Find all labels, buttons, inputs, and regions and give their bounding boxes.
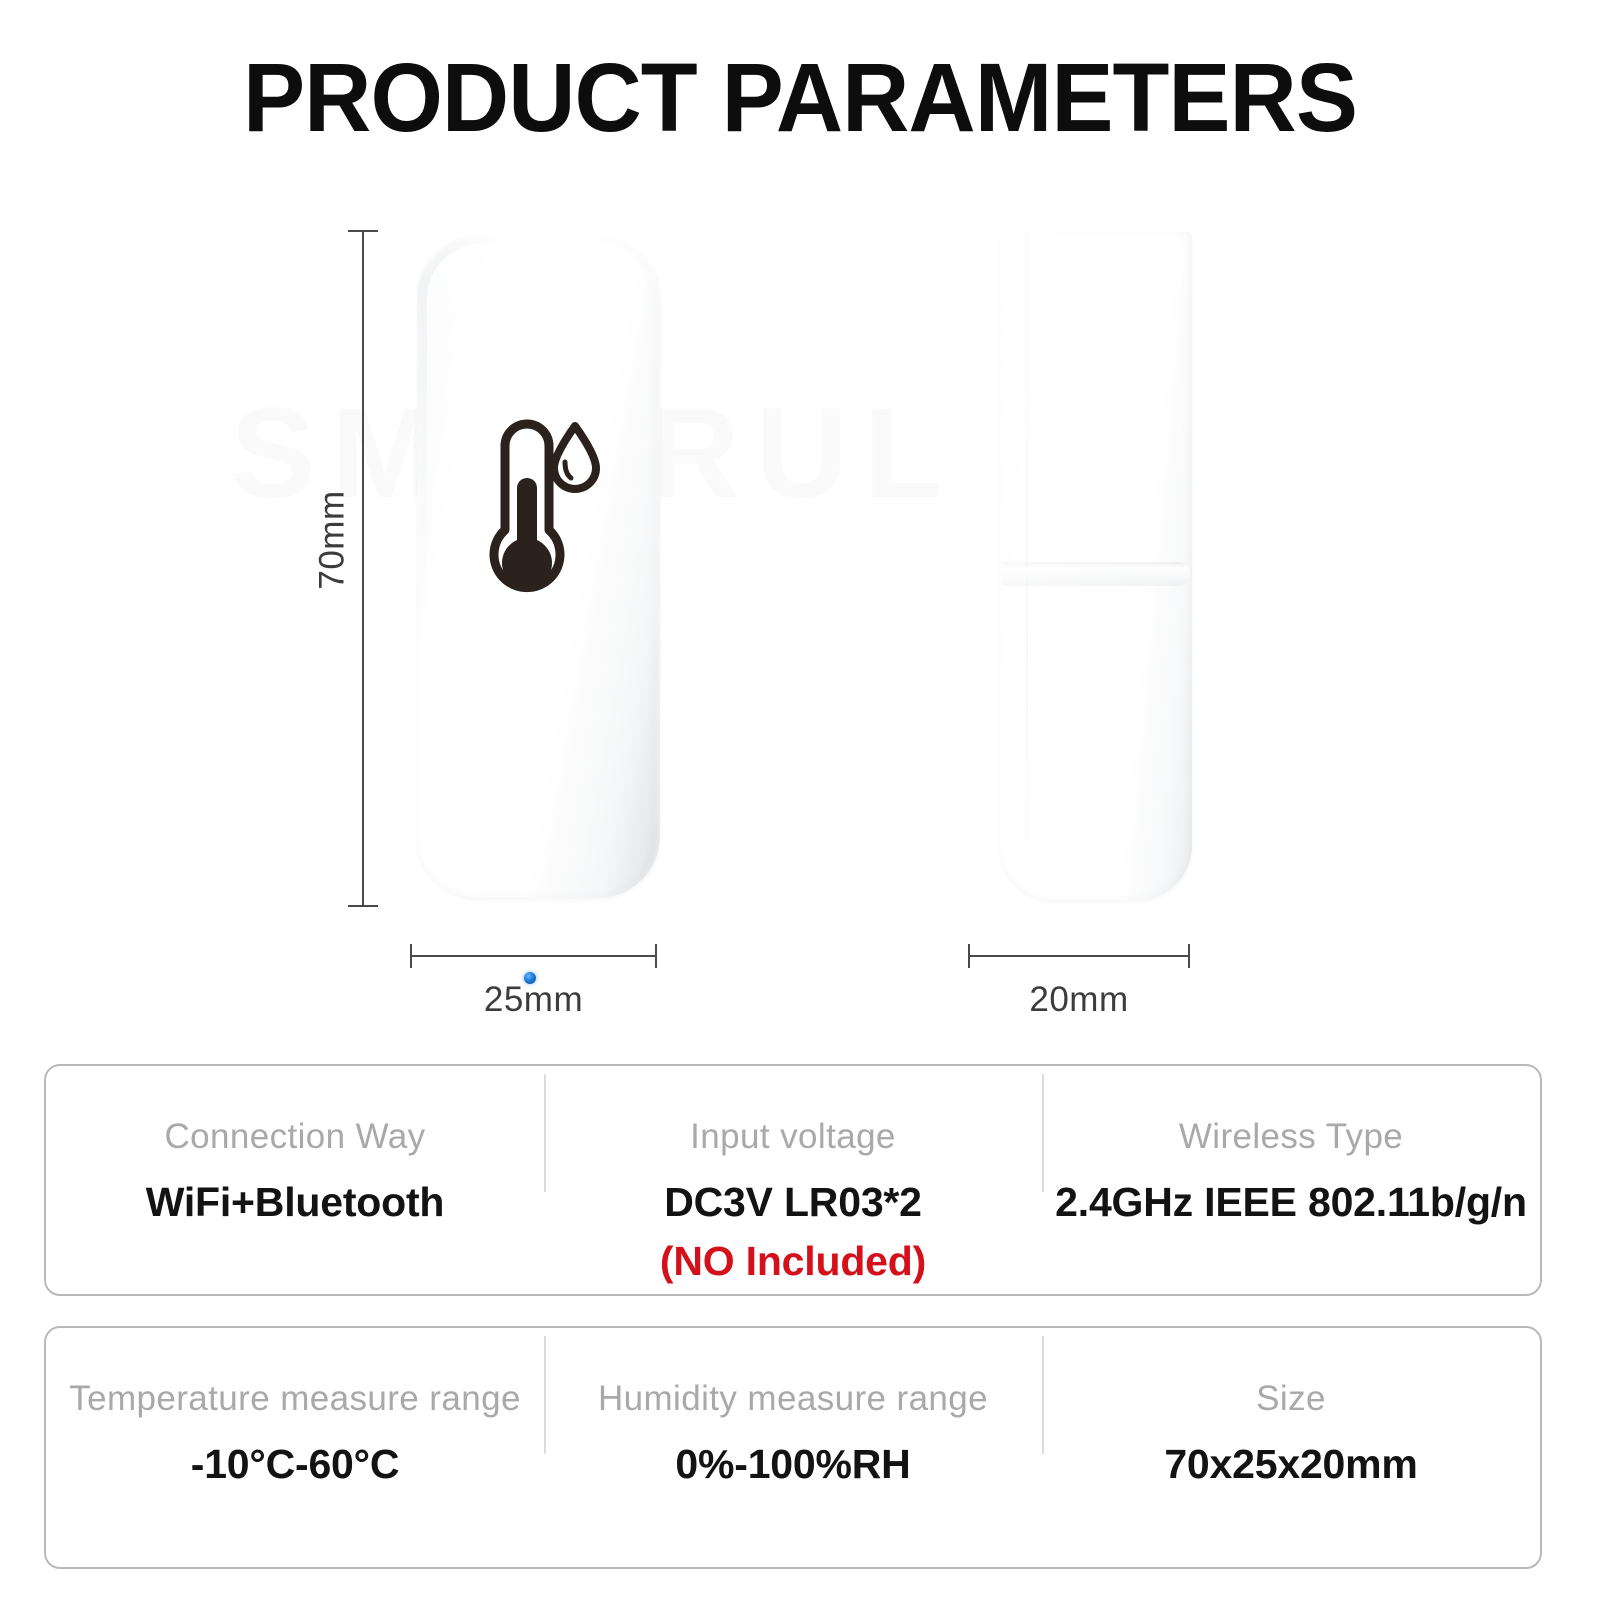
spec-card-primary: Connection Way WiFi+Bluetooth Input volt… bbox=[44, 1064, 1542, 1296]
spec-label: Temperature measure range bbox=[46, 1380, 544, 1419]
spec-value: WiFi+Bluetooth bbox=[46, 1179, 544, 1226]
spec-note-not-included: (NO Included) bbox=[544, 1238, 1042, 1285]
spec-row: Connection Way WiFi+Bluetooth Input volt… bbox=[46, 1066, 1540, 1294]
spec-value: 70x25x20mm bbox=[1042, 1441, 1540, 1488]
side-highlight bbox=[1000, 232, 1146, 900]
spec-cell-temperature-range: Temperature measure range -10°C-60°C bbox=[46, 1328, 544, 1488]
height-dimension-line bbox=[362, 230, 364, 907]
side-width-dimension-label: 20mm bbox=[968, 980, 1190, 1020]
front-width-dimension-label: 25mm bbox=[410, 980, 657, 1020]
spec-row: Temperature measure range -10°C-60°C Hum… bbox=[46, 1328, 1540, 1567]
spec-label: Wireless Type bbox=[1042, 1118, 1540, 1157]
spec-value: 2.4GHz IEEE 802.11b/g/n bbox=[1042, 1179, 1540, 1226]
spec-value: 0%-100%RH bbox=[544, 1441, 1042, 1488]
side-width-dimension-line bbox=[968, 955, 1190, 957]
spec-label: Connection Way bbox=[46, 1118, 544, 1157]
page-title: PRODUCT PARAMETERS bbox=[32, 42, 1568, 154]
spec-label: Input voltage bbox=[544, 1118, 1042, 1157]
spec-cell-input-voltage: Input voltage DC3V LR03*2 (NO Included) bbox=[544, 1066, 1042, 1285]
spec-label: Size bbox=[1042, 1380, 1540, 1419]
product-parameters-page: SMATRUL PRODUCT PARAMETERS bbox=[0, 0, 1600, 1600]
spec-value: -10°C-60°C bbox=[46, 1441, 544, 1488]
product-image-stage: 70mm 25mm 20mm bbox=[0, 190, 1600, 1030]
device-side-view bbox=[1000, 232, 1192, 900]
spec-cell-size: Size 70x25x20mm bbox=[1042, 1328, 1540, 1488]
spec-cell-connection-way: Connection Way WiFi+Bluetooth bbox=[46, 1066, 544, 1226]
status-led-indicator bbox=[524, 972, 536, 984]
thermometer-humidity-icon bbox=[470, 412, 600, 604]
height-dimension-label: 70mm bbox=[313, 490, 353, 589]
spec-value: DC3V LR03*2 bbox=[544, 1179, 1042, 1226]
spec-cell-wireless-type: Wireless Type 2.4GHz IEEE 802.11b/g/n bbox=[1042, 1066, 1540, 1226]
front-width-dimension-line bbox=[410, 955, 657, 957]
spec-cell-humidity-range: Humidity measure range 0%-100%RH bbox=[544, 1328, 1042, 1488]
spec-card-secondary: Temperature measure range -10°C-60°C Hum… bbox=[44, 1326, 1542, 1569]
spec-label: Humidity measure range bbox=[544, 1380, 1042, 1419]
